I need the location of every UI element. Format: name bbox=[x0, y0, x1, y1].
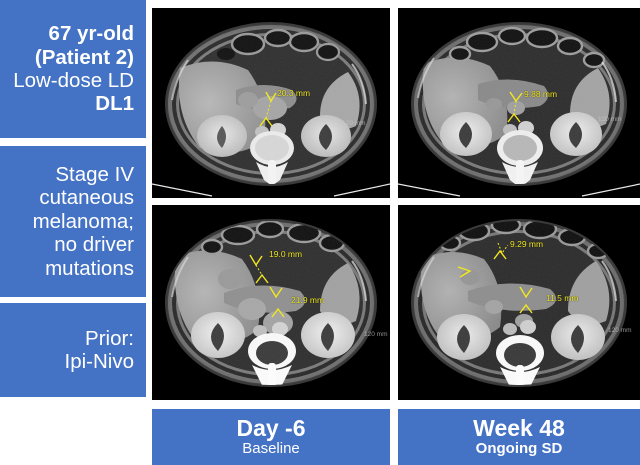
figure-slide: 67 yr-old (Patient 2) Low-dose LD DL1 St… bbox=[0, 0, 640, 465]
sidebar-line: Ipi-Nivo bbox=[65, 350, 135, 373]
ct-panel-top-left: 20.3 mm 120 mm bbox=[152, 8, 390, 198]
sidebar-line: melanoma; bbox=[33, 210, 134, 233]
column-label-week48: Week 48 Ongoing SD bbox=[398, 409, 640, 465]
sidebar-block-diagnosis: Stage IV cutaneous melanoma; no driver m… bbox=[0, 146, 146, 297]
sidebar-line: Low-dose LD bbox=[13, 69, 134, 92]
ct-panel-top-right: 9.88 mm 120 mm bbox=[398, 8, 640, 198]
ct-panel-bottom-right: 9.29 mm 11.5 mm 120 mm bbox=[398, 205, 640, 400]
measurement-label: 9.29 mm bbox=[510, 239, 543, 249]
sidebar-line: Stage IV bbox=[55, 163, 134, 186]
sidebar-block-patient-info: 67 yr-old (Patient 2) Low-dose LD DL1 bbox=[0, 0, 146, 138]
measurement-label: 19.0 mm bbox=[269, 249, 302, 259]
sidebar-line: DL1 bbox=[95, 92, 134, 115]
sidebar-line: (Patient 2) bbox=[35, 46, 134, 69]
sidebar-line: 67 yr-old bbox=[49, 22, 134, 45]
sidebar-line: cutaneous bbox=[39, 186, 134, 209]
measurement-label: 20.3 mm bbox=[277, 88, 310, 98]
scale-marker: 120 mm bbox=[364, 331, 387, 338]
sidebar-block-prior-therapy: Prior: Ipi-Nivo bbox=[0, 303, 146, 397]
sidebar-line: no driver bbox=[54, 233, 134, 256]
ct-image-bottom-right bbox=[398, 205, 640, 400]
measurement-label: 9.88 mm bbox=[524, 89, 557, 99]
sidebar-line: mutations bbox=[45, 257, 134, 280]
column-subtitle: Ongoing SD bbox=[476, 440, 563, 457]
column-title: Week 48 bbox=[473, 416, 565, 440]
scale-marker: 120 mm bbox=[598, 116, 621, 123]
ct-image-bottom-left bbox=[152, 205, 390, 400]
measurement-label: 11.5 mm bbox=[546, 293, 578, 303]
ct-image-top-left bbox=[152, 8, 390, 198]
column-title: Day -6 bbox=[236, 416, 305, 440]
ct-image-top-right bbox=[398, 8, 640, 198]
column-label-baseline: Day -6 Baseline bbox=[152, 409, 390, 465]
ct-panel-bottom-left: 19.0 mm 21.9 mm 120 mm bbox=[152, 205, 390, 400]
scale-marker: 120 mm bbox=[342, 120, 365, 127]
sidebar-line: Prior: bbox=[85, 327, 134, 350]
column-subtitle: Baseline bbox=[242, 440, 300, 457]
scale-marker: 120 mm bbox=[608, 327, 631, 334]
measurement-label: 21.9 mm bbox=[291, 295, 324, 305]
